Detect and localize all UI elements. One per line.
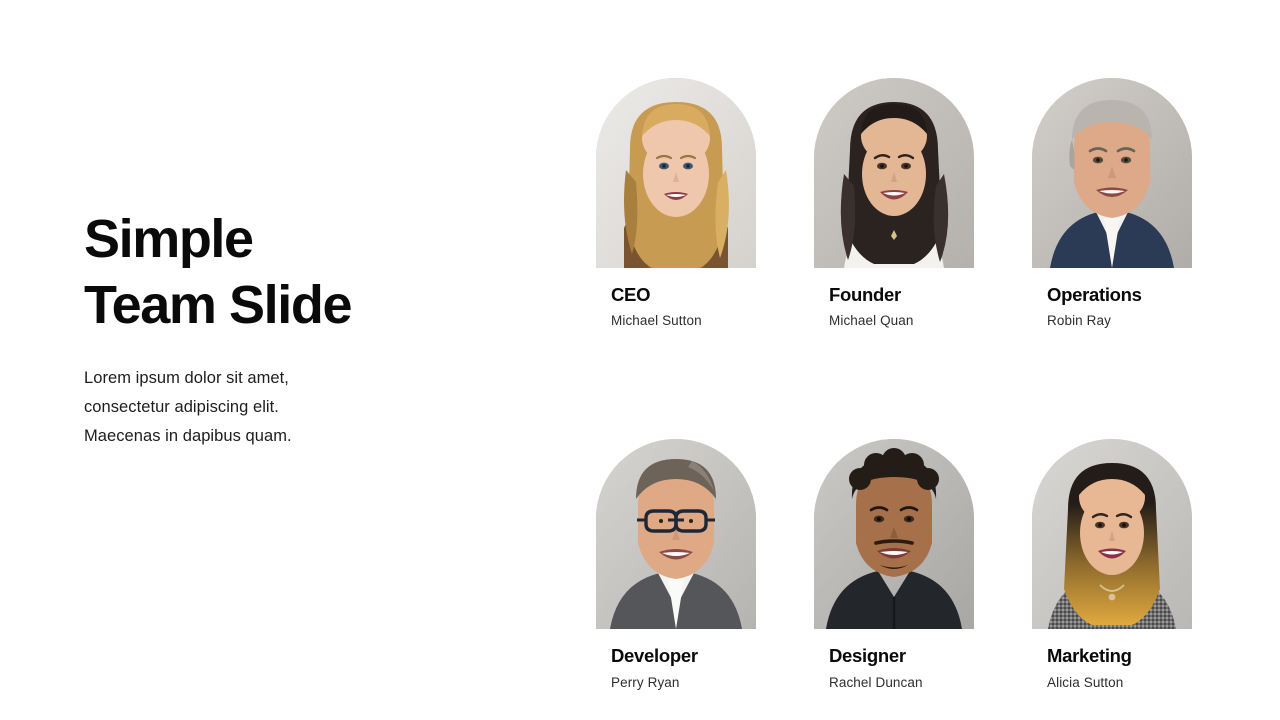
member-photo-founder — [814, 78, 974, 268]
portrait-illustration — [814, 439, 974, 629]
member-role: Marketing — [1032, 629, 1192, 666]
team-member-grid: CEO Michael Sutton — [596, 78, 1192, 690]
team-member-card[interactable]: Developer Perry Ryan — [596, 439, 756, 690]
portrait-illustration — [1032, 78, 1192, 268]
team-member-card[interactable]: Marketing Alicia Sutton — [1032, 439, 1192, 690]
member-name: Robin Ray — [1032, 305, 1192, 329]
member-photo-operations — [1032, 78, 1192, 268]
team-member-card[interactable]: Designer Rachel Duncan — [814, 439, 974, 690]
member-name: Perry Ryan — [596, 667, 756, 691]
page-title: Simple Team Slide — [84, 206, 504, 338]
member-photo-developer — [596, 439, 756, 629]
member-role: Founder — [814, 268, 974, 305]
slide-body-text: Lorem ipsum dolor sit amet, consectetur … — [84, 338, 384, 451]
slide-text-panel: Simple Team Slide Lorem ipsum dolor sit … — [84, 206, 504, 451]
member-photo-ceo — [596, 78, 756, 268]
member-role: Designer — [814, 629, 974, 666]
member-role: Operations — [1032, 268, 1192, 305]
member-name: Rachel Duncan — [814, 667, 974, 691]
member-name: Alicia Sutton — [1032, 667, 1192, 691]
portrait-illustration — [1032, 439, 1192, 629]
member-photo-marketing — [1032, 439, 1192, 629]
team-member-card[interactable]: Operations Robin Ray — [1032, 78, 1192, 329]
portrait-illustration — [814, 78, 974, 268]
member-name: Michael Sutton — [596, 305, 756, 329]
portrait-illustration — [596, 78, 756, 268]
member-role: CEO — [596, 268, 756, 305]
team-member-card[interactable]: CEO Michael Sutton — [596, 78, 756, 329]
team-member-card[interactable]: Founder Michael Quan — [814, 78, 974, 329]
member-name: Michael Quan — [814, 305, 974, 329]
member-photo-designer — [814, 439, 974, 629]
portrait-illustration — [596, 439, 756, 629]
member-role: Developer — [596, 629, 756, 666]
